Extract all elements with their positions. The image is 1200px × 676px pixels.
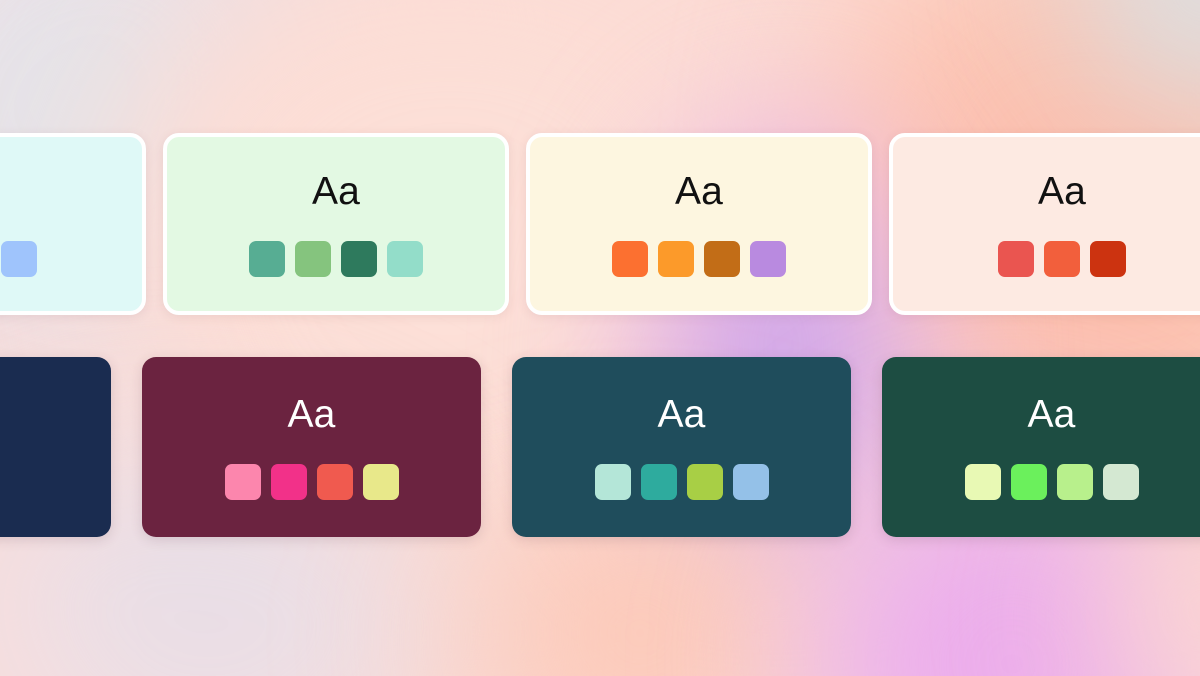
theme-card-spring-mint[interactable]: Aa: [163, 133, 509, 315]
theme-card-pine-green[interactable]: Aa: [882, 357, 1200, 537]
swatch-amber[interactable]: [658, 241, 694, 277]
swatch-salmon-red[interactable]: [998, 241, 1034, 277]
swatch-lavender[interactable]: [750, 241, 786, 277]
theme-card-label: Aa: [657, 395, 705, 434]
swatch-pale-yellow[interactable]: [363, 464, 399, 500]
swatch-bright-orange[interactable]: [612, 241, 648, 277]
swatch-lime[interactable]: [687, 464, 723, 500]
swatch-sage[interactable]: [1103, 464, 1139, 500]
swatch-sea-green[interactable]: [249, 241, 285, 277]
theme-swatch-group: [225, 464, 399, 500]
swatch-periwinkle[interactable]: [1, 241, 37, 277]
theme-card-dark-teal[interactable]: Aa: [512, 357, 851, 537]
theme-card-warm-cream[interactable]: Aa: [526, 133, 872, 315]
swatch-soft-pink[interactable]: [225, 464, 261, 500]
theme-swatch-group: [612, 241, 786, 277]
theme-card-label: Aa: [1038, 172, 1086, 211]
swatch-forest-green[interactable]: [341, 241, 377, 277]
theme-swatch-group: [595, 464, 769, 500]
theme-card-label: Aa: [287, 395, 335, 434]
theme-card-label: Aa: [675, 172, 723, 211]
swatch-sky-blue[interactable]: [733, 464, 769, 500]
swatch-leaf-green[interactable]: [295, 241, 331, 277]
swatch-jade[interactable]: [641, 464, 677, 500]
swatch-bright-green[interactable]: [1011, 464, 1047, 500]
theme-swatch-group: [249, 241, 423, 277]
theme-carousel: AaAaAaAa AaAaAa: [0, 0, 1200, 676]
swatch-pale-lime[interactable]: [965, 464, 1001, 500]
theme-swatch-group: [0, 241, 37, 277]
theme-row-light[interactable]: AaAaAaAa: [0, 133, 1200, 315]
theme-card-blush-peach[interactable]: Aa: [889, 133, 1200, 315]
theme-card-deep-maroon[interactable]: Aa: [142, 357, 481, 537]
theme-card-aqua-mist[interactable]: Aa: [0, 133, 146, 315]
swatch-coral-red[interactable]: [317, 464, 353, 500]
theme-swatch-group: [998, 241, 1126, 277]
theme-swatch-group: [965, 464, 1139, 500]
theme-row-dark[interactable]: AaAaAa: [0, 357, 1200, 537]
swatch-pale-mint[interactable]: [595, 464, 631, 500]
swatch-burnt-ochre[interactable]: [704, 241, 740, 277]
swatch-brick-red[interactable]: [1090, 241, 1126, 277]
swatch-coral[interactable]: [1044, 241, 1080, 277]
swatch-pale-aqua[interactable]: [387, 241, 423, 277]
swatch-magenta[interactable]: [271, 464, 307, 500]
theme-card-label: Aa: [1027, 395, 1075, 434]
swatch-light-green[interactable]: [1057, 464, 1093, 500]
theme-card-label: Aa: [312, 172, 360, 211]
theme-card-midnight-navy[interactable]: [0, 357, 111, 537]
